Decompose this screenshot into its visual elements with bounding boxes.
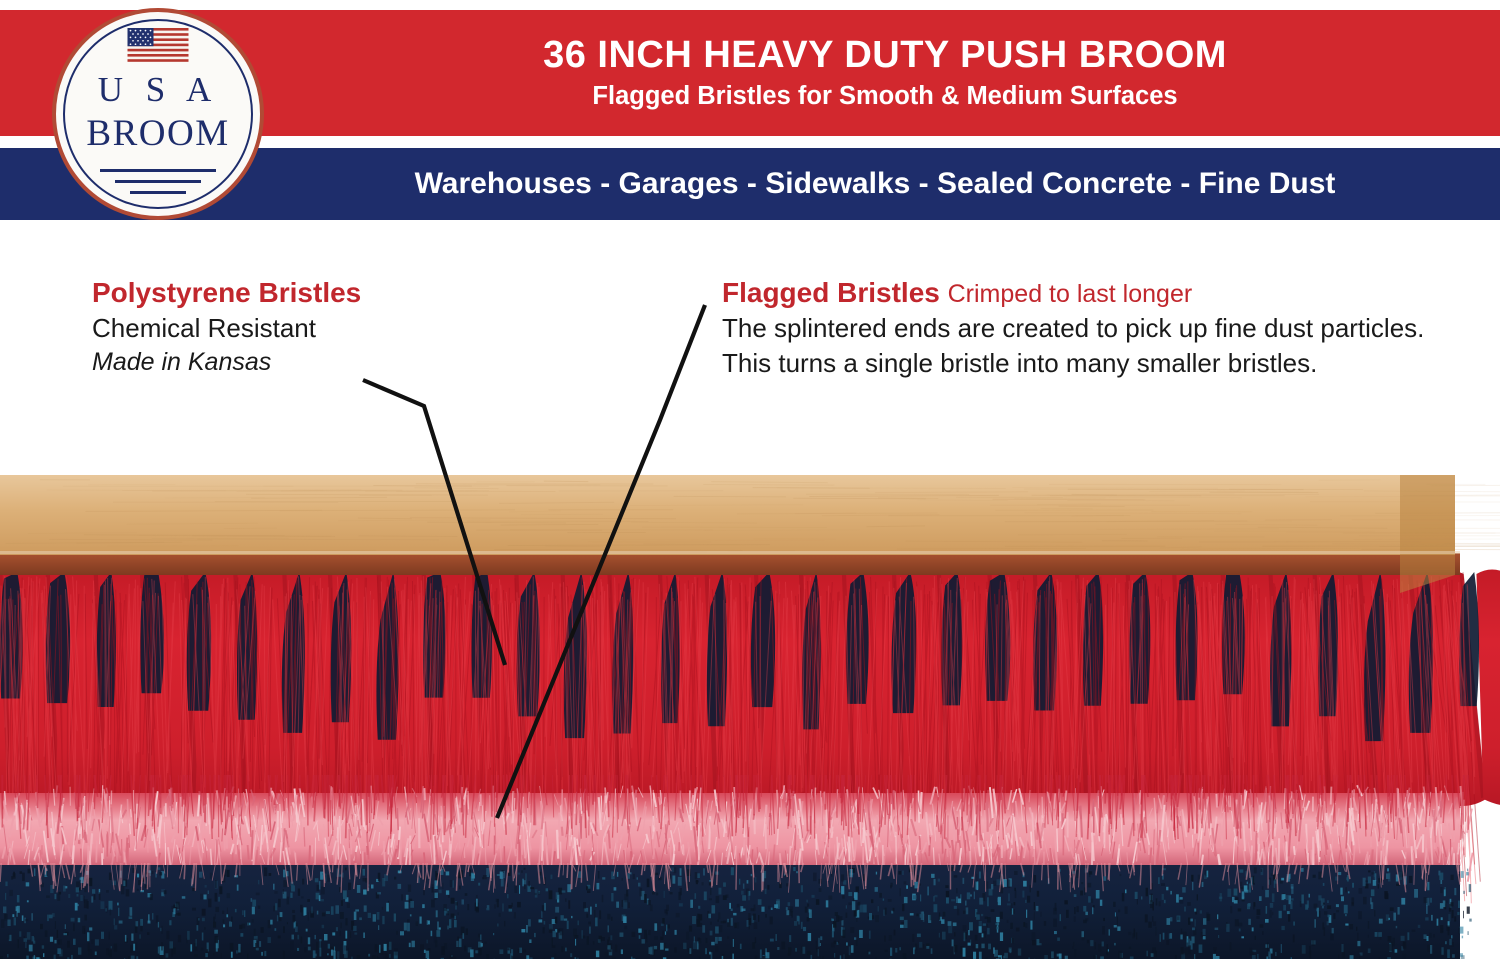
logo-text-usa: U S A	[56, 72, 260, 107]
logo-decorative-rules	[56, 169, 260, 202]
annotation-right-body: The splintered ends are created to pick …	[722, 311, 1452, 381]
header-text-group: 36 INCH HEAVY DUTY PUSH BROOM Flagged Br…	[270, 10, 1500, 136]
broom-photo-illustration	[0, 475, 1500, 959]
annotation-left-line3: Made in Kansas	[92, 346, 522, 379]
logo-rule-1	[100, 169, 216, 172]
annotation-right-heading-bold: Flagged Bristles	[722, 277, 940, 308]
annotation-flagged-bristles: Flagged Bristles Crimped to last longer …	[722, 276, 1452, 380]
annotation-right-heading-light: Crimped to last longer	[948, 280, 1193, 308]
annotation-left-line2: Chemical Resistant	[92, 311, 522, 346]
usa-flag-icon	[128, 28, 189, 62]
logo-text-broom: BROOM	[56, 115, 260, 152]
usa-broom-logo-badge: U S A BROOM	[52, 8, 264, 220]
infographic-canvas: 36 INCH HEAVY DUTY PUSH BROOM Flagged Br…	[0, 0, 1500, 959]
logo-rule-3	[130, 191, 186, 194]
applications-text-group: Warehouses - Garages - Sidewalks - Seale…	[250, 148, 1500, 220]
annotation-polystyrene-bristles: Polystyrene Bristles Chemical Resistant …	[92, 276, 522, 378]
broom-closeup-photo	[0, 475, 1500, 959]
applications-list: Warehouses - Garages - Sidewalks - Seale…	[415, 167, 1336, 201]
page-subtitle: Flagged Bristles for Smooth & Medium Sur…	[592, 83, 1177, 110]
annotation-right-heading: Flagged Bristles Crimped to last longer	[722, 276, 1452, 311]
logo-rule-2	[115, 180, 201, 183]
page-title: 36 INCH HEAVY DUTY PUSH BROOM	[543, 36, 1227, 76]
annotation-left-heading: Polystyrene Bristles	[92, 276, 522, 311]
